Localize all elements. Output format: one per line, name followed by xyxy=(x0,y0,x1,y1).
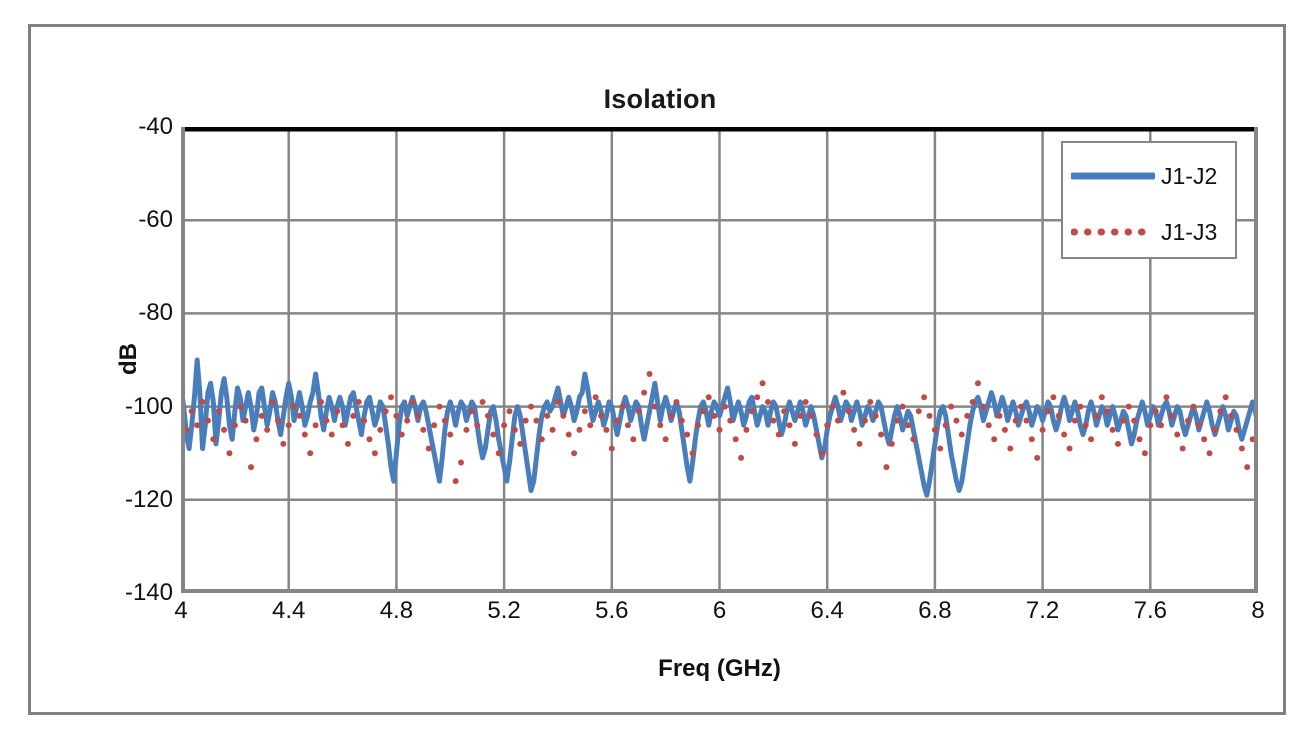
x-tick-label: 7.6 xyxy=(1110,599,1190,623)
x-tick-label: 4.4 xyxy=(249,599,329,623)
y-tick-label: -40 xyxy=(93,115,173,139)
y-tick-label: -60 xyxy=(93,208,173,232)
x-tick-label: 4 xyxy=(141,599,221,623)
plot-area: dB Freq (GHz) -40-60-80-100-120-140 44.4… xyxy=(181,127,1258,593)
chart-frame: Isolation dB Freq (GHz) -40-60-80-100-12… xyxy=(28,24,1286,715)
x-tick-label: 5.2 xyxy=(464,599,544,623)
chart-legend: J1-J2 J1-J3 xyxy=(1061,141,1237,259)
x-tick-label: 5.6 xyxy=(572,599,652,623)
legend-label-j1-j3: J1-J3 xyxy=(1161,219,1217,246)
x-tick-label: 8 xyxy=(1218,599,1298,623)
x-tick-label: 4.8 xyxy=(356,599,436,623)
x-tick-label: 6 xyxy=(680,599,760,623)
x-tick-label: 7.2 xyxy=(1003,599,1083,623)
y-tick-label: -120 xyxy=(93,488,173,512)
legend-item-j1-j2: J1-J2 xyxy=(1063,161,1239,191)
x-tick-label: 6.8 xyxy=(895,599,975,623)
legend-swatch-line-icon xyxy=(1071,167,1155,185)
chart-title: Isolation xyxy=(31,84,1289,115)
y-tick-label: -80 xyxy=(93,301,173,325)
legend-label-j1-j2: J1-J2 xyxy=(1161,163,1217,190)
y-tick-label: -100 xyxy=(93,395,173,419)
legend-swatch-dotted-icon xyxy=(1071,223,1155,241)
x-tick-label: 6.4 xyxy=(787,599,867,623)
x-axis-title: Freq (GHz) xyxy=(181,655,1258,683)
legend-item-j1-j3: J1-J3 xyxy=(1063,217,1239,247)
